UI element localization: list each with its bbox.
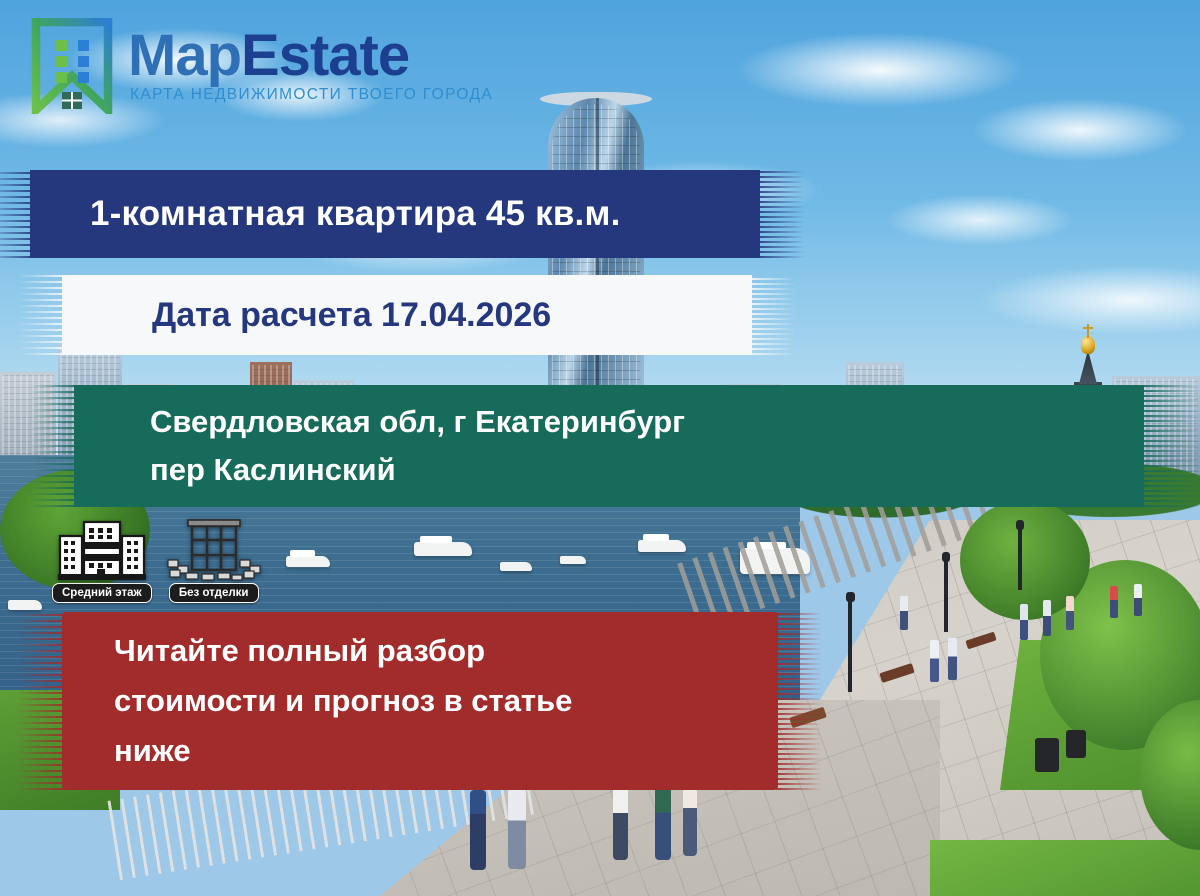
address-text: Свердловская обл, г Екатеринбург пер Кас…	[74, 398, 685, 494]
brand-name-part2: Estate	[241, 23, 409, 88]
pedestrian	[613, 782, 628, 860]
pedestrian	[1043, 600, 1051, 636]
pedestrian	[948, 638, 957, 680]
badge-middle-floor: Средний этаж	[52, 516, 152, 603]
boat	[560, 556, 586, 564]
bookmark-building-icon	[28, 18, 116, 114]
lamp-post	[1016, 520, 1024, 530]
pedestrian	[900, 596, 908, 630]
boat	[500, 562, 532, 571]
brand-name: MapEstate	[128, 28, 493, 84]
boat	[638, 540, 686, 552]
lamp-post	[846, 592, 855, 602]
lamp-post	[942, 552, 950, 562]
address-line-2: пер Каслинский	[150, 446, 685, 494]
unfinished-construction-icon	[166, 516, 262, 587]
pedestrian	[508, 785, 526, 869]
boat	[8, 600, 42, 610]
feature-badges: Средний этаж	[52, 516, 262, 603]
lamp-post	[848, 600, 852, 692]
cta-text: Читайте полный разбор стоимости и прогно…	[62, 626, 572, 777]
cta-banner[interactable]: Читайте полный разбор стоимости и прогно…	[62, 612, 778, 790]
calculation-date-banner: Дата расчета 17.04.2026	[62, 275, 752, 355]
property-title-text: 1-комнатная квартира 45 кв.м.	[30, 194, 621, 234]
cta-line-3: ниже	[114, 726, 572, 776]
calculation-date-text: Дата расчета 17.04.2026	[62, 296, 551, 335]
badge-no-finishing: Без отделки	[166, 516, 262, 603]
pedestrian	[1020, 604, 1028, 640]
address-banner: Свердловская обл, г Екатеринбург пер Кас…	[74, 385, 1144, 507]
lawn	[930, 840, 1200, 896]
brand-wordmark: MapEstate КАРТА НЕДВИЖИМОСТИ ТВОЕГО ГОРО…	[128, 28, 493, 104]
boat	[286, 556, 330, 567]
apartment-building-icon	[56, 516, 148, 587]
pedestrian	[1110, 586, 1118, 618]
brand-tagline: КАРТА НЕДВИЖИМОСТИ ТВОЕГО ГОРОДА	[130, 86, 493, 104]
property-title-banner: 1-комнатная квартира 45 кв.м.	[30, 170, 760, 258]
pedestrian	[655, 778, 671, 860]
pedestrian	[930, 640, 939, 682]
pedestrian	[1066, 596, 1074, 630]
pedestrian	[1134, 584, 1142, 616]
pedestrian	[470, 790, 486, 870]
cta-line-2: стоимости и прогноз в статье	[114, 676, 572, 726]
brand-logo[interactable]: MapEstate КАРТА НЕДВИЖИМОСТИ ТВОЕГО ГОРО…	[28, 18, 493, 114]
lamp-post	[944, 560, 948, 632]
cta-line-1: Читайте полный разбор	[114, 626, 572, 676]
trash-bin	[1066, 730, 1086, 758]
boat	[414, 542, 472, 556]
trash-bin	[1035, 738, 1059, 772]
address-line-1: Свердловская обл, г Екатеринбург	[150, 398, 685, 446]
brand-name-part1: Map	[128, 23, 241, 88]
lamp-post	[1018, 528, 1022, 590]
